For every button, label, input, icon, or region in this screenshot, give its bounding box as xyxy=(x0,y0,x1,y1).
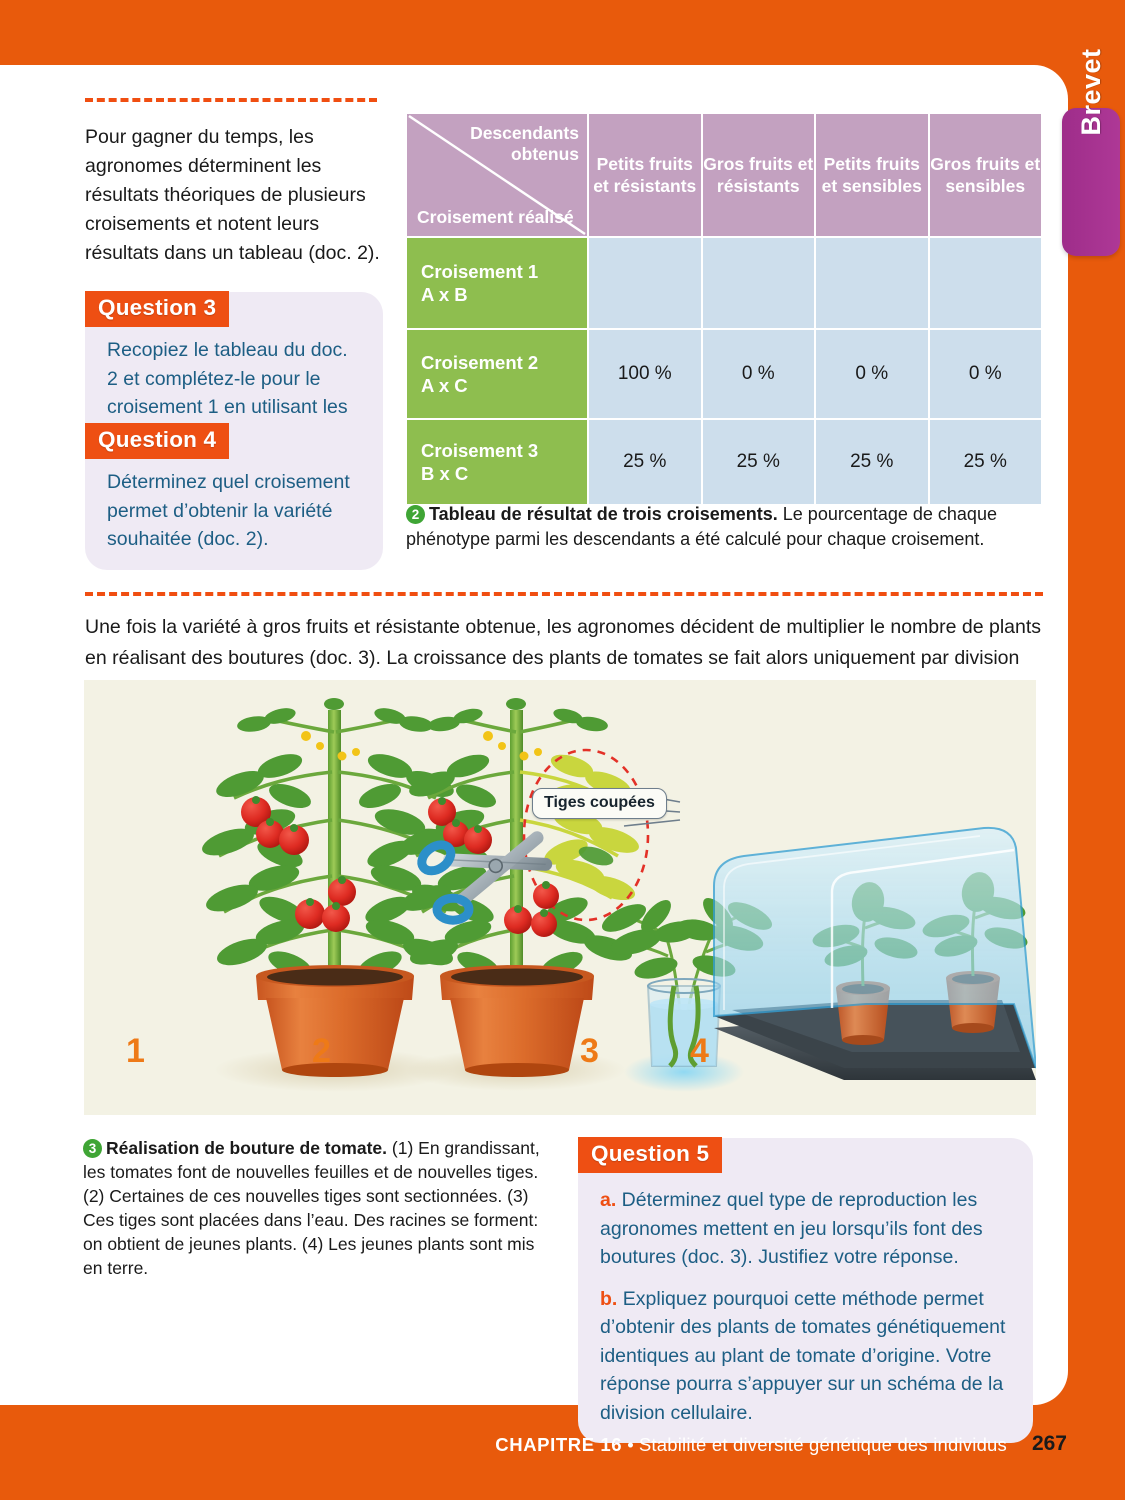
question-5-part-a: a. Déterminez quel type de reproduction … xyxy=(578,1174,1033,1272)
cell-1-0: 100 % xyxy=(589,330,701,418)
row-head-2-line2: B x C xyxy=(421,462,587,485)
question-5-a-label: a. xyxy=(600,1189,616,1211)
greenhouse-step-4: 4 xyxy=(690,828,1036,1080)
brevet-tab-label: Brevet xyxy=(1062,18,1120,166)
doc3-caption: 3Réalisation de bouture de tomate. (1) E… xyxy=(83,1136,553,1280)
step-label-1: 1 xyxy=(126,1032,145,1070)
intro-column: Pour gagner du temps, les agronomes déte… xyxy=(85,98,380,268)
cell-0-2 xyxy=(816,238,928,328)
col-header-3: Gros fruits et sensibles xyxy=(930,114,1042,236)
question-4-text: Déterminez quel croisement permet d’obte… xyxy=(85,460,383,554)
cell-1-1: 0 % xyxy=(703,330,815,418)
table-corner-header: Descendants obtenus Croisement réalisé xyxy=(407,114,587,236)
cell-1-2: 0 % xyxy=(816,330,928,418)
results-table: Descendants obtenus Croisement réalisé P… xyxy=(405,112,1043,506)
step-label-2: 2 xyxy=(312,1032,331,1070)
footer-separator: • xyxy=(622,1434,639,1455)
doc3-number-badge: 3 xyxy=(83,1139,102,1158)
footer-page-number: 267 xyxy=(1032,1432,1067,1456)
doc3-caption-bold: Réalisation de bouture de tomate. xyxy=(106,1138,387,1158)
question-4-box: Question 4 Déterminez quel croisement pe… xyxy=(85,424,383,570)
table-header-row: Descendants obtenus Croisement réalisé P… xyxy=(407,114,1041,236)
table-row: Croisement 1 A x B xyxy=(407,238,1041,328)
cell-1-3: 0 % xyxy=(930,330,1042,418)
question-5-b-label: b. xyxy=(600,1288,617,1310)
col-header-2: Petits fruits et sensibles xyxy=(816,114,928,236)
doc2-caption: 2Tableau de résultat de trois croisement… xyxy=(406,502,1046,552)
row-head-1-line1: Croisement 2 xyxy=(421,351,587,374)
row-head-1: Croisement 2 A x C xyxy=(407,330,587,418)
footer-chapter-title: Stabilité et diversité génétique des ind… xyxy=(639,1434,1007,1455)
intro-paragraph: Pour gagner du temps, les agronomes déte… xyxy=(85,123,380,268)
corner-label-croisement: Croisement réalisé xyxy=(417,207,574,228)
cell-0-0 xyxy=(589,238,701,328)
row-head-2: Croisement 3 B x C xyxy=(407,420,587,504)
question-5-b-text: Expliquez pourquoi cette méthode permet … xyxy=(600,1288,1005,1424)
intro-dashed-rule xyxy=(85,98,377,102)
water-glass xyxy=(648,979,720,1066)
question-5-badge: Question 5 xyxy=(578,1137,722,1173)
question-5-part-b: b. Expliquez pourquoi cette méthode perm… xyxy=(578,1272,1033,1428)
cell-2-1: 25 % xyxy=(703,420,815,504)
tiges-coupees-callout: Tiges coupées xyxy=(532,788,667,819)
step-label-3: 3 xyxy=(580,1032,599,1070)
question-4-badge: Question 4 xyxy=(85,423,229,459)
row-head-0: Croisement 1 A x B xyxy=(407,238,587,328)
col-header-1: Gros fruits et résistants xyxy=(703,114,815,236)
doc3-caption-rest: (1) En grandissant, les tomates font de … xyxy=(83,1138,540,1278)
table-row: Croisement 2 A x C 100 % 0 % 0 % 0 % xyxy=(407,330,1041,418)
page-footer: CHAPITRE 16•Stabilité et diversité génét… xyxy=(0,1405,1125,1500)
brevet-tab[interactable]: Brevet xyxy=(1062,108,1120,256)
question-5-a-text: Déterminez quel type de reproduction les… xyxy=(600,1189,983,1268)
row-head-1-line2: A x C xyxy=(421,374,587,397)
doc2-caption-bold: Tableau de résultat de trois croisements… xyxy=(429,504,778,524)
step-label-4: 4 xyxy=(690,1032,709,1070)
illustration-svg: 1 xyxy=(84,680,1036,1115)
col-header-0: Petits fruits et résistants xyxy=(589,114,701,236)
cell-2-3: 25 % xyxy=(930,420,1042,504)
question-3-badge: Question 3 xyxy=(85,291,229,327)
table-row: Croisement 3 B x C 25 % 25 % 25 % 25 % xyxy=(407,420,1041,504)
cell-2-0: 25 % xyxy=(589,420,701,504)
flower-pot-2 xyxy=(440,965,594,1077)
question-5-box: Question 5 a. Déterminez quel type de re… xyxy=(578,1138,1033,1443)
footer-chapter-number: CHAPITRE 16 xyxy=(495,1434,622,1455)
tomato-cluster-right xyxy=(295,876,356,932)
cell-2-2: 25 % xyxy=(816,420,928,504)
mid-dashed-rule xyxy=(85,592,1043,596)
corner-label-descendants: Descendants obtenus xyxy=(407,123,579,165)
row-head-2-line1: Croisement 3 xyxy=(421,439,587,462)
doc2-number-badge: 2 xyxy=(406,505,425,524)
footer-chapter-line: CHAPITRE 16•Stabilité et diversité génét… xyxy=(495,1434,1007,1456)
cell-0-1 xyxy=(703,238,815,328)
row-head-0-line1: Croisement 1 xyxy=(421,260,587,283)
cell-0-3 xyxy=(930,238,1042,328)
row-head-0-line2: A x B xyxy=(421,283,587,306)
bouture-illustration: 1 xyxy=(84,680,1036,1115)
